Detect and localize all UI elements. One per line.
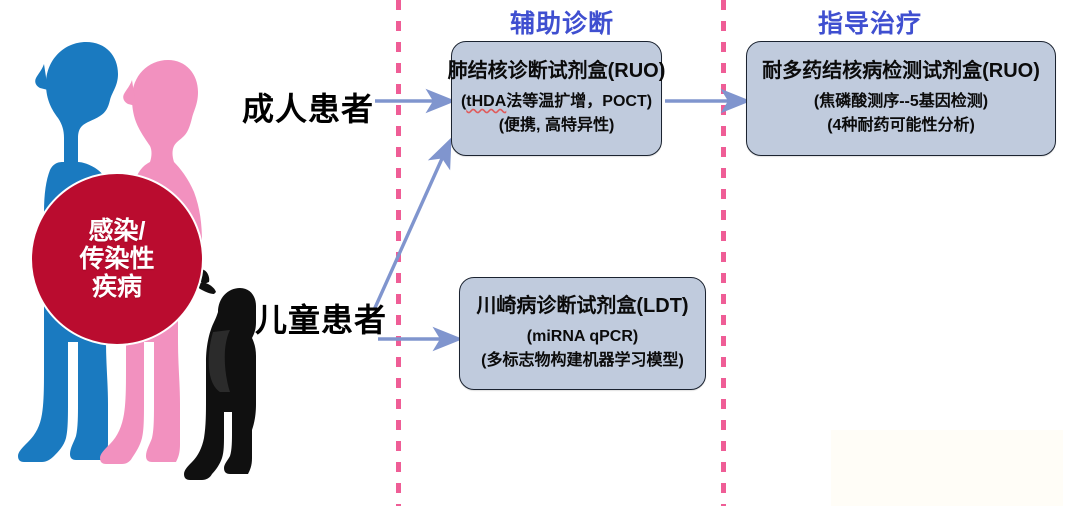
box-tb-sub-2: (便携, 高特异性) [499, 116, 615, 137]
box-mdr-tb-detection-kit[interactable]: 耐多药结核病检测试剂盒(RUO) (焦磷酸测序--5基因检测) (4种耐药可能性… [746, 41, 1056, 156]
badge-line-2: 传染性 [79, 245, 154, 273]
badge-line-1: 感染/ [89, 217, 146, 245]
box-mdr-title: 耐多药结核病检测试剂盒(RUO) [762, 60, 1040, 84]
box-tb-diagnostic-kit[interactable]: 肺结核诊断试剂盒(RUO) (tHDA法等温扩增，POCT) (便携, 高特异性… [451, 41, 662, 156]
arrow-child-to-tb [374, 143, 449, 310]
box-tb-sub1-spellchecked-term: tHDA [466, 93, 506, 110]
diagram-canvas: 感染/ 传染性 疾病 辅助诊断 指导治疗 成人患者 儿童患者 肺结核诊断试剂盒(… [0, 0, 1066, 506]
badge-line-3: 疾病 [92, 273, 142, 301]
column-header-guided-therapy: 指导治疗 [818, 4, 922, 40]
box-kd-sub-2: (多标志物构建机器学习模型) [481, 351, 684, 372]
infectious-disease-badge: 感染/ 传染性 疾病 [30, 172, 204, 346]
column-header-aided-diagnosis: 辅助诊断 [510, 4, 614, 40]
box-tb-sub1-post: 法等温扩增，POCT) [506, 93, 652, 110]
label-child-patient: 儿童患者 [255, 295, 387, 341]
label-adult-patient: 成人患者 [242, 84, 374, 130]
box-mdr-sub-2: (4种耐药可能性分析) [827, 116, 975, 137]
box-tb-title: 肺结核诊断试剂盒(RUO) [448, 60, 666, 84]
box-kawasaki-diagnostic-kit[interactable]: 川崎病诊断试剂盒(LDT) (miRNA qPCR) (多标志物构建机器学习模型… [459, 277, 706, 390]
box-tb-sub-1: (tHDA法等温扩增，POCT) [461, 92, 652, 113]
box-kd-sub-1: (miRNA qPCR) [527, 327, 638, 348]
box-kd-title: 川崎病诊断试剂盒(LDT) [476, 295, 688, 319]
box-mdr-sub-1: (焦磷酸测序--5基因检测) [814, 92, 988, 113]
